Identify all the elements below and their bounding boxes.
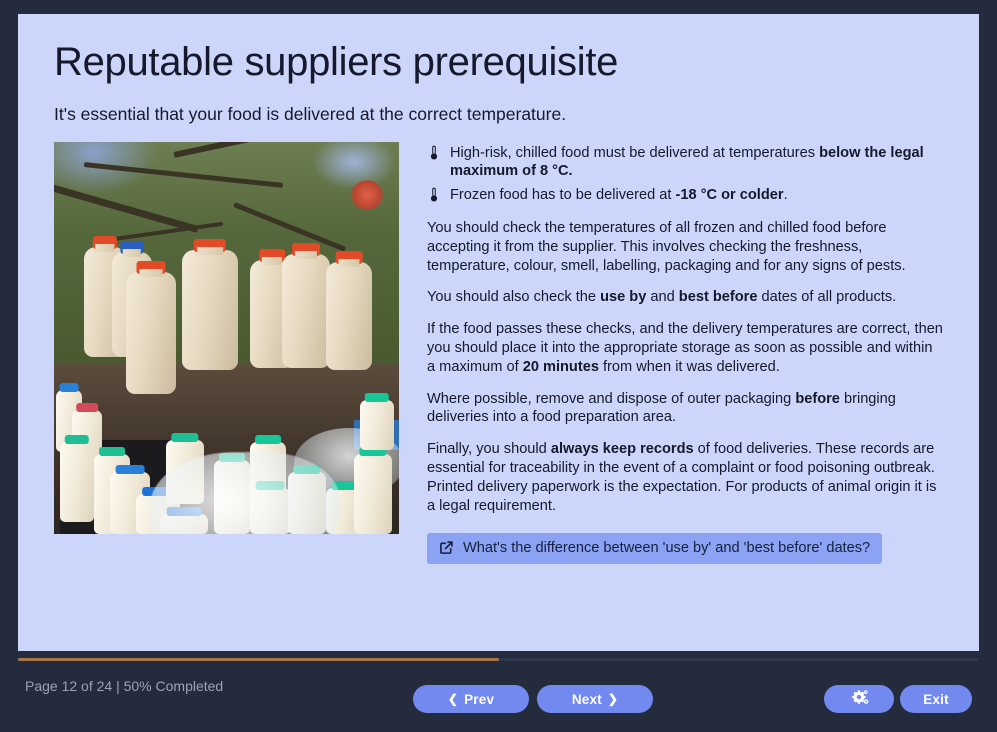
bullet-item: High-risk, chilled food must be delivere… <box>427 144 944 182</box>
body-text: Frozen food has to be delivered at <box>450 187 676 203</box>
photo-milk-bottle <box>326 262 372 370</box>
milk-bottles-delivery-photo <box>54 142 399 534</box>
body-paragraph: Where possible, remove and dispose of ou… <box>427 390 944 428</box>
bullet-item: Frozen food has to be delivered at -18 °… <box>427 186 944 205</box>
photo-milk-bottle-small <box>360 400 394 450</box>
photo-milk-bottle <box>126 272 176 394</box>
emphasis-text: use by <box>600 289 646 305</box>
exit-button-label: Exit <box>923 692 949 707</box>
emphasis-text: 20 minutes <box>523 359 599 375</box>
emphasis-text: best before <box>679 289 758 305</box>
prev-button-label: Prev <box>464 692 494 707</box>
use-by-best-before-link-button[interactable]: What's the difference between 'use by' a… <box>427 533 882 564</box>
body-paragraph: Finally, you should always keep records … <box>427 440 944 515</box>
content-columns: High-risk, chilled food must be delivere… <box>54 142 944 564</box>
slide-panel: Reputable suppliers prerequisite It's es… <box>18 14 979 651</box>
page-subtitle: It's essential that your food is deliver… <box>54 103 944 126</box>
body-text: You should check the temperatures of all… <box>427 220 906 274</box>
prev-button[interactable]: ❮ Prev <box>413 685 529 713</box>
paragraph-list: You should check the temperatures of all… <box>427 219 944 516</box>
photo-milk-bottle <box>282 254 330 368</box>
photo-milk-bottle <box>182 250 238 370</box>
footer-bar: Page 12 of 24 | 50% Completed ❮ Prev Nex… <box>0 666 997 732</box>
bullet-list: High-risk, chilled food must be delivere… <box>427 144 944 205</box>
emphasis-text: always keep records <box>551 441 694 457</box>
emphasis-text: -18 °C or colder <box>676 187 784 203</box>
body-paragraph: You should check the temperatures of all… <box>427 219 944 275</box>
slide-content: Reputable suppliers prerequisite It's es… <box>54 40 944 564</box>
chevron-left-icon: ❮ <box>448 693 458 705</box>
body-paragraph: If the food passes these checks, and the… <box>427 320 944 376</box>
navigation-controls: ❮ Prev Next ❯ <box>0 685 997 713</box>
body-text: High-risk, chilled food must be delivere… <box>450 145 819 161</box>
body-paragraph: You should also check the use by and bes… <box>427 288 944 307</box>
text-column: High-risk, chilled food must be delivere… <box>427 142 944 564</box>
photo-red-leaves <box>350 180 384 210</box>
chevron-right-icon: ❯ <box>608 693 618 705</box>
body-text: Where possible, remove and dispose of ou… <box>427 391 795 407</box>
body-text: Finally, you should <box>427 441 551 457</box>
next-button[interactable]: Next ❯ <box>537 685 653 713</box>
link-button-label: What's the difference between 'use by' a… <box>463 540 870 556</box>
photo-milk-bottle-small <box>60 442 94 522</box>
body-text: dates of all products. <box>757 289 896 305</box>
exit-button[interactable]: Exit <box>900 685 972 713</box>
body-text: . <box>784 187 788 203</box>
next-button-label: Next <box>572 692 602 707</box>
page-title: Reputable suppliers prerequisite <box>54 40 944 85</box>
external-link-icon <box>439 540 454 555</box>
body-text: and <box>646 289 678 305</box>
progress-bar-track <box>18 658 979 661</box>
progress-bar-fill <box>18 658 499 661</box>
cogs-icon <box>850 689 869 709</box>
emphasis-text: before <box>795 391 840 407</box>
settings-button[interactable] <box>824 685 894 713</box>
photo-milk-bottle-small <box>354 454 392 534</box>
course-player: Reputable suppliers prerequisite It's es… <box>0 0 997 732</box>
body-text: You should also check the <box>427 289 600 305</box>
body-text: from when it was delivered. <box>599 359 780 375</box>
